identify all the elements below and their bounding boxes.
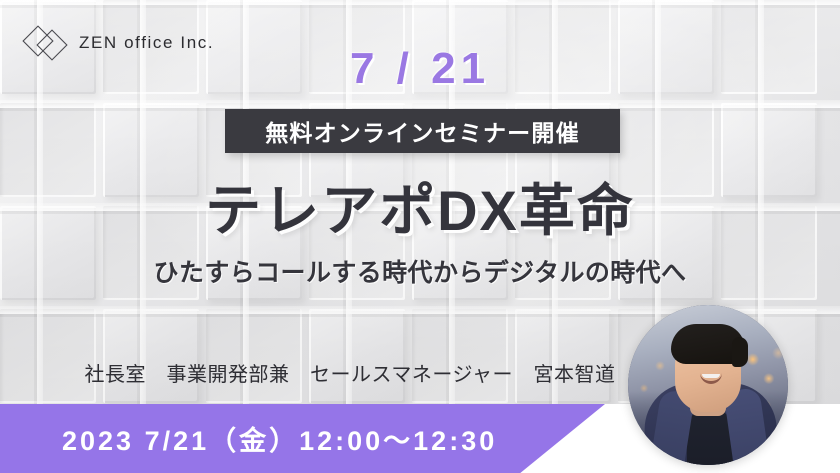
seminar-banner-label: 無料オンラインセミナー開催 — [265, 114, 580, 148]
date-headline: 7 / 21 — [0, 44, 840, 94]
page-subtitle: ひたすらコールする時代からデジタルの時代へ — [0, 253, 840, 289]
page-title: テレアポDX革命 — [0, 166, 840, 247]
schedule-bar: 2023 7/21（金）12:00〜12:30 — [0, 404, 605, 473]
speaker-credit: 社長室 事業開発部兼 セールスマネージャー 宮本智道 — [0, 358, 700, 387]
seminar-banner: 無料オンラインセミナー開催 — [225, 109, 620, 153]
avatar-hair — [671, 324, 745, 364]
seminar-promo-slide: ZEN office Inc. 7 / 21 無料オンラインセミナー開催 テレア… — [0, 0, 840, 473]
speaker-avatar — [628, 305, 788, 465]
schedule-datetime: 2023 7/21（金）12:00〜12:30 — [62, 419, 497, 458]
